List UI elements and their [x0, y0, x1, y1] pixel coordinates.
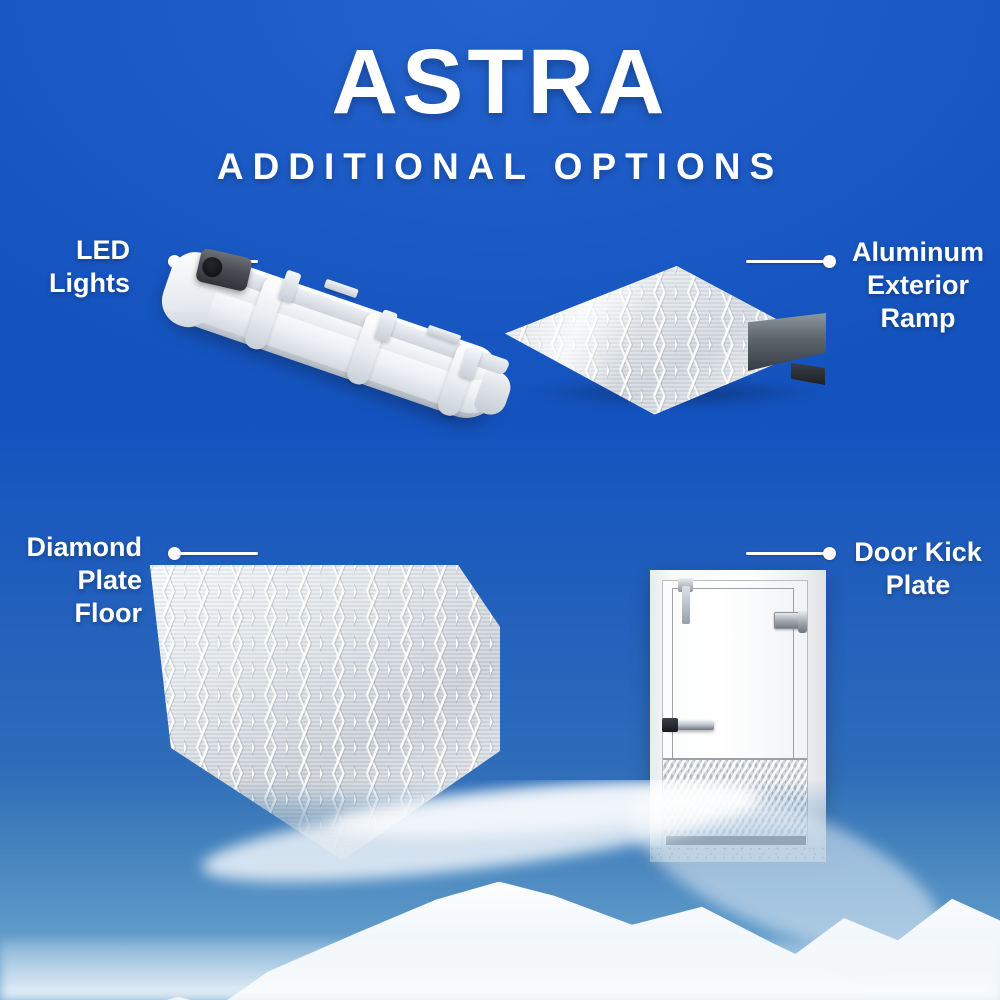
callout-label-led-lights: LED Lights	[0, 234, 130, 300]
ramp-back-edge-block	[748, 313, 826, 371]
hinge-pin-icon	[798, 610, 807, 633]
leader-dot-icon	[823, 547, 836, 560]
door-hinge-top	[774, 612, 806, 629]
page-subtitle: ADDITIONAL OPTIONS	[0, 128, 1000, 185]
page-title: ASTRA	[0, 0, 1000, 128]
leader-bar-icon	[746, 552, 827, 555]
astra-additional-options-poster: ASTRA ADDITIONAL OPTIONS LED Lights Alum…	[0, 0, 1000, 1000]
leader-bar-icon	[177, 552, 258, 555]
callout-label-diamond-plate-floor: Diamond Plate Floor	[0, 531, 142, 630]
door-latch-rod	[682, 586, 690, 624]
callout-label-door-kick-plate: Door Kick Plate	[840, 536, 996, 602]
led-vapor-tight-fixture-image	[120, 262, 540, 462]
door-latch-handle	[668, 720, 714, 730]
leader-line-diamond-plate-floor	[168, 546, 258, 560]
led-fixture-body-group	[131, 217, 539, 508]
snow-mountain-ice-band	[0, 780, 1000, 1000]
callout-label-aluminum-exterior-ramp: Aluminum Exterior Ramp	[840, 236, 996, 335]
leader-line-door-kick-plate	[746, 546, 836, 560]
poster-header: ASTRA ADDITIONAL OPTIONS	[0, 0, 1000, 185]
aluminum-exterior-ramp-image	[505, 258, 855, 448]
snow-ridge-haze	[0, 940, 1000, 1000]
